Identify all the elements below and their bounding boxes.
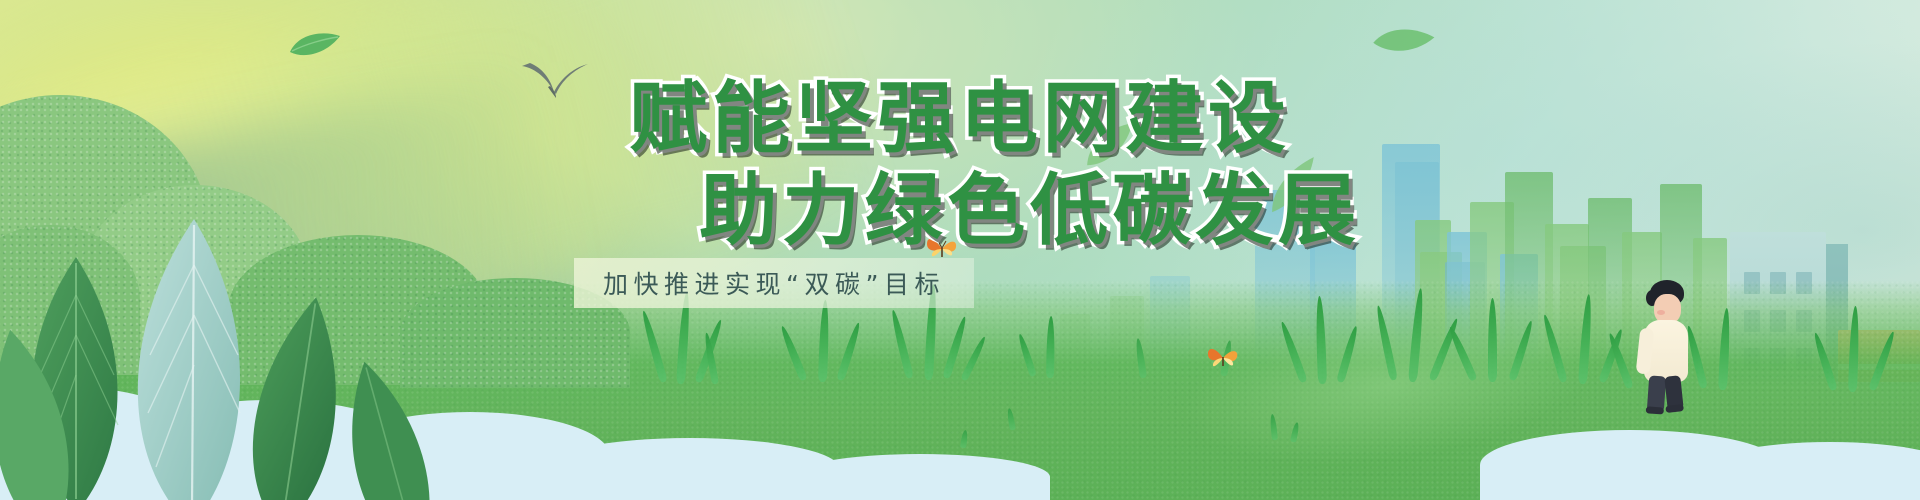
person-leg [1647, 375, 1666, 412]
person-leg [1664, 375, 1683, 410]
snow-hill [1700, 442, 1920, 500]
walking-person [1636, 280, 1698, 410]
subtitle-text: 加快推进实现“双碳”目标 [574, 258, 974, 308]
person-cheek [1657, 310, 1665, 315]
butterfly-icon [1205, 340, 1241, 379]
bird-silhouette-icon [520, 62, 592, 104]
snow-hill [790, 454, 1050, 500]
green-power-banner: 赋能坚强电网建设 助力绿色低碳发展 加快推进实现“双碳”目标 [0, 0, 1920, 500]
floating-leaf-icon [288, 30, 342, 65]
